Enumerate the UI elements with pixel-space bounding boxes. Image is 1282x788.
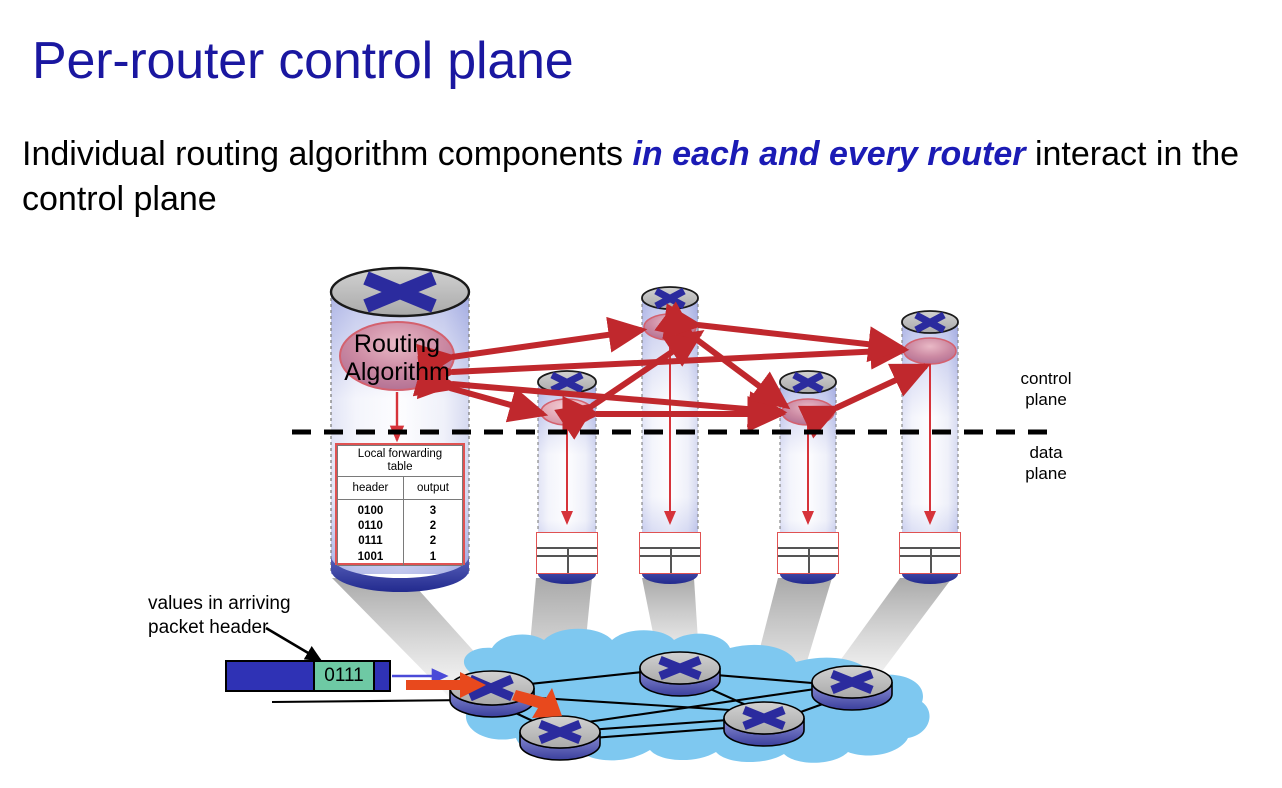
inbound-orange-arrow-head — [460, 672, 486, 698]
foreground-layer — [0, 0, 1282, 788]
outbound-orange-arrow — [512, 688, 562, 718]
inbound-orange-arrow — [406, 680, 468, 690]
packet-header-callout-arrow — [266, 628, 320, 660]
slide-canvas: Per-router control plane Individual rout… — [0, 0, 1282, 788]
